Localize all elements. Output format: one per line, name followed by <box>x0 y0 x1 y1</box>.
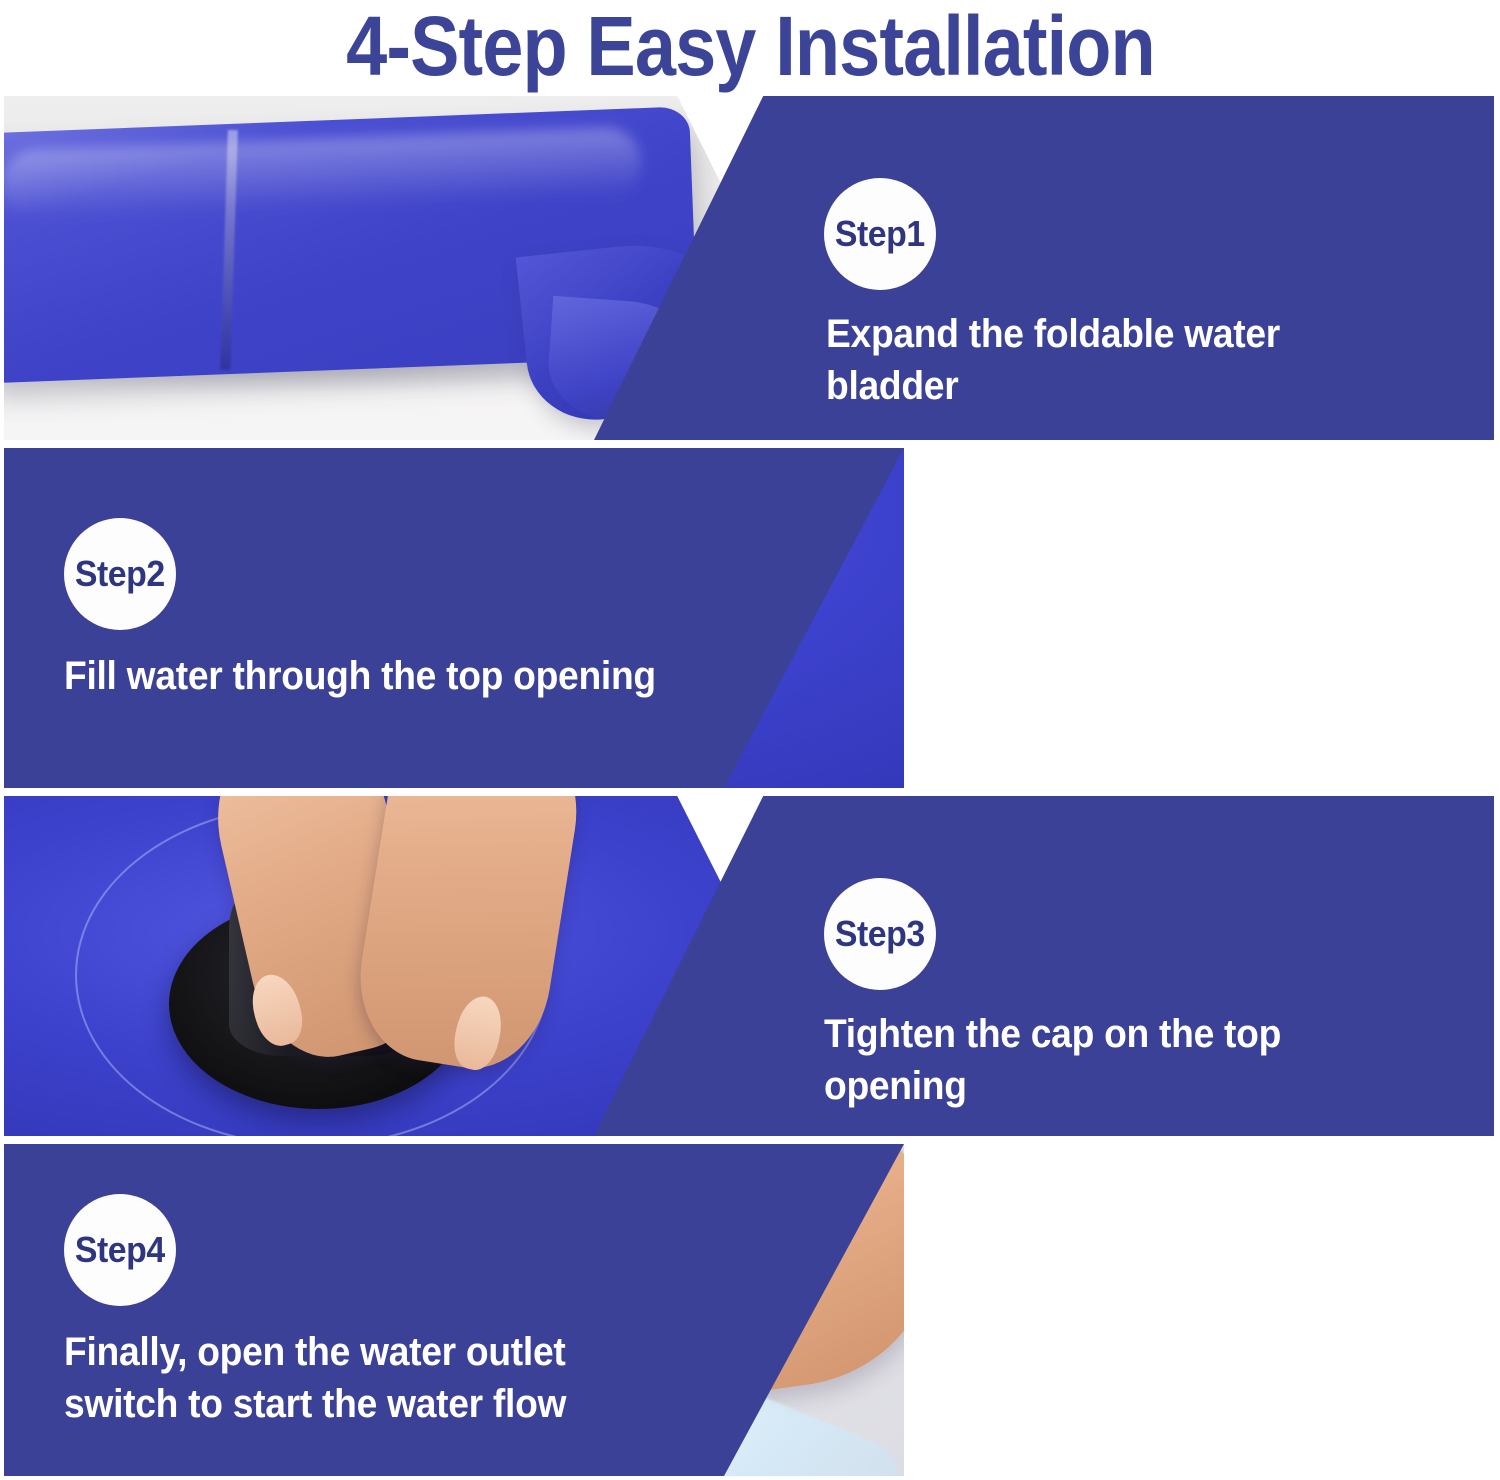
step-row-3: Step3 Tighten the cap on the top opening <box>4 796 1494 1136</box>
step-3-badge-label: Step3 <box>835 913 925 955</box>
step-2-badge-label: Step2 <box>75 553 165 595</box>
page-title-bar: 4-Step Easy Installation <box>0 0 1500 92</box>
step-row-1: Step1 Expand the foldable water bladder <box>4 96 1494 440</box>
step-4-badge: Step4 <box>64 1194 176 1306</box>
step-2-badge: Step2 <box>64 518 176 630</box>
step-row-2: Step2 Fill water through the top opening <box>4 448 1494 788</box>
page-title: 4-Step Easy Installation <box>346 2 1155 90</box>
installation-infographic: 4-Step Easy Installation Step1 Expand th… <box>0 0 1500 1480</box>
step-3-caption: Tighten the cap on the top opening <box>824 1008 1410 1112</box>
step-4-caption: Finally, open the water outlet switch to… <box>64 1326 566 1430</box>
step-2-panel-content: Step2 Fill water through the top opening <box>64 448 704 788</box>
step-1-caption: Expand the foldable water bladder <box>826 308 1410 412</box>
step-4-badge-label: Step4 <box>75 1229 165 1271</box>
step-1-badge: Step1 <box>824 178 936 290</box>
step-2-caption: Fill water through the top opening <box>64 650 656 702</box>
step-3-badge: Step3 <box>824 878 936 990</box>
step-4-panel-content: Step4 Finally, open the water outlet swi… <box>64 1144 704 1476</box>
step-3-panel-content: Step3 Tighten the cap on the top opening <box>824 796 1454 1136</box>
step-1-panel: Step1 Expand the foldable water bladder <box>594 96 1494 440</box>
bladder-highlight <box>4 126 642 221</box>
step-row-4: Step4 Finally, open the water outlet swi… <box>4 1144 1494 1476</box>
step-1-panel-content: Step1 Expand the foldable water bladder <box>824 96 1454 440</box>
step-1-badge-label: Step1 <box>835 213 925 255</box>
step-3-panel: Step3 Tighten the cap on the top opening <box>594 796 1494 1136</box>
